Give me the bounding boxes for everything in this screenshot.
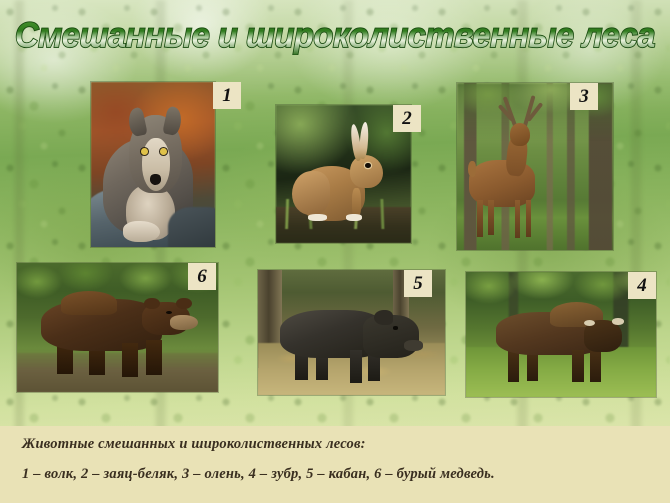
bear-muzzle <box>170 315 198 330</box>
bison-horn-left <box>584 320 595 326</box>
hare-photo[interactable] <box>276 105 411 243</box>
caption-heading: Животные смешанных и широколиственных ле… <box>22 436 670 453</box>
wolf-eye-right <box>160 148 167 155</box>
wolf-paw <box>123 221 160 242</box>
slide: Смешанные и широколиственные леса 1 2 <box>0 0 670 503</box>
boar-leg-3 <box>350 350 362 383</box>
bear-ear-left <box>144 298 160 310</box>
bison-meadow <box>466 347 656 397</box>
bear-ground <box>17 353 218 392</box>
deer-leg-3 <box>515 200 521 238</box>
bear-eye <box>166 311 172 314</box>
bison-leg-1 <box>508 350 519 383</box>
hare-rump <box>292 171 330 215</box>
hare-hind-foot <box>308 214 327 221</box>
photo-number-badge-2: 2 <box>393 105 421 132</box>
deer-leg-1 <box>477 200 483 237</box>
title-text: Смешанные и широколиственные леса <box>15 16 655 55</box>
boar-ear <box>374 310 393 325</box>
deer-tail <box>468 161 476 176</box>
hare-front-foot <box>346 214 362 221</box>
bison-leg-3 <box>572 350 583 383</box>
caption-panel: Животные смешанных и широколиственных ле… <box>0 426 670 503</box>
deer-leg-2 <box>488 200 494 235</box>
photo-number-badge-1: 1 <box>213 82 241 109</box>
title-wordart: Смешанные и широколиственные леса <box>7 5 663 55</box>
photo-number-badge-6: 6 <box>188 263 216 290</box>
deer-head <box>510 123 530 146</box>
bison-horn-right <box>612 318 623 324</box>
bear-leg-3 <box>122 343 138 377</box>
bear-leg-4 <box>146 340 162 375</box>
slide-title: Смешанные и широколиственные леса <box>0 4 670 56</box>
boar-eye <box>393 326 399 329</box>
caption-legend: 1 – волк, 2 – заяц-беляк, 3 – олень, 4 –… <box>22 466 670 483</box>
bison-leg-2 <box>527 351 538 381</box>
bison-leg-4 <box>590 348 601 382</box>
photo-number-badge-5: 5 <box>404 270 432 297</box>
wolf-rock-right <box>168 207 215 247</box>
deer-leg-4 <box>526 200 532 237</box>
photo-number-badge-3: 3 <box>570 83 598 110</box>
bear-shoulder-hump <box>61 291 117 314</box>
wolf-eye-left <box>141 148 148 155</box>
photo-number-badge-4: 4 <box>628 272 656 299</box>
boar-snout <box>404 340 423 351</box>
wolf-photo[interactable] <box>91 82 215 247</box>
